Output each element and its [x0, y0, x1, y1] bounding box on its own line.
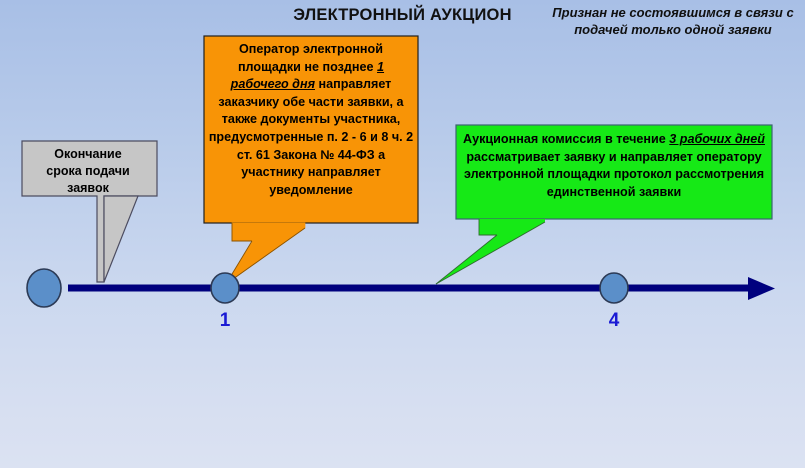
operator-callout-label: Оператор электронной площадки не позднее… [208, 41, 414, 199]
timeline-tick-label-1: 1 [205, 310, 245, 332]
deadline-line-1: Окончание [24, 146, 152, 163]
commission-callout-label: Аукционная комиссия в течение 3 рабочих … [460, 131, 768, 201]
commission-seg-1: Аукционная комиссия в течение [463, 132, 669, 146]
commission-seg-3: рассматривает заявку и направляет операт… [464, 150, 764, 199]
node-4 [600, 273, 628, 303]
node-start [27, 269, 61, 307]
status-note: Признан не состоявшимся в связи с подаче… [544, 5, 802, 38]
operator-seg-1: Оператор электронной площадки не позднее [238, 42, 383, 74]
timeline-axis [68, 277, 775, 300]
operator-seg-3: направляет заказчику обе части заявки, а… [209, 77, 413, 197]
timeline-tick-label-4: 4 [594, 310, 634, 332]
deadline-line-2: срока подачи [24, 163, 152, 180]
commission-seg-emph: 3 рабочих дней [669, 132, 765, 146]
deadline-callout-label: Окончание срока подачи заявок [24, 146, 152, 197]
slide-canvas: ЭЛЕКТРОННЫЙ АУКЦИОН Признан не состоявши… [0, 0, 805, 468]
node-1 [211, 273, 239, 303]
deadline-line-3: заявок [24, 180, 152, 197]
